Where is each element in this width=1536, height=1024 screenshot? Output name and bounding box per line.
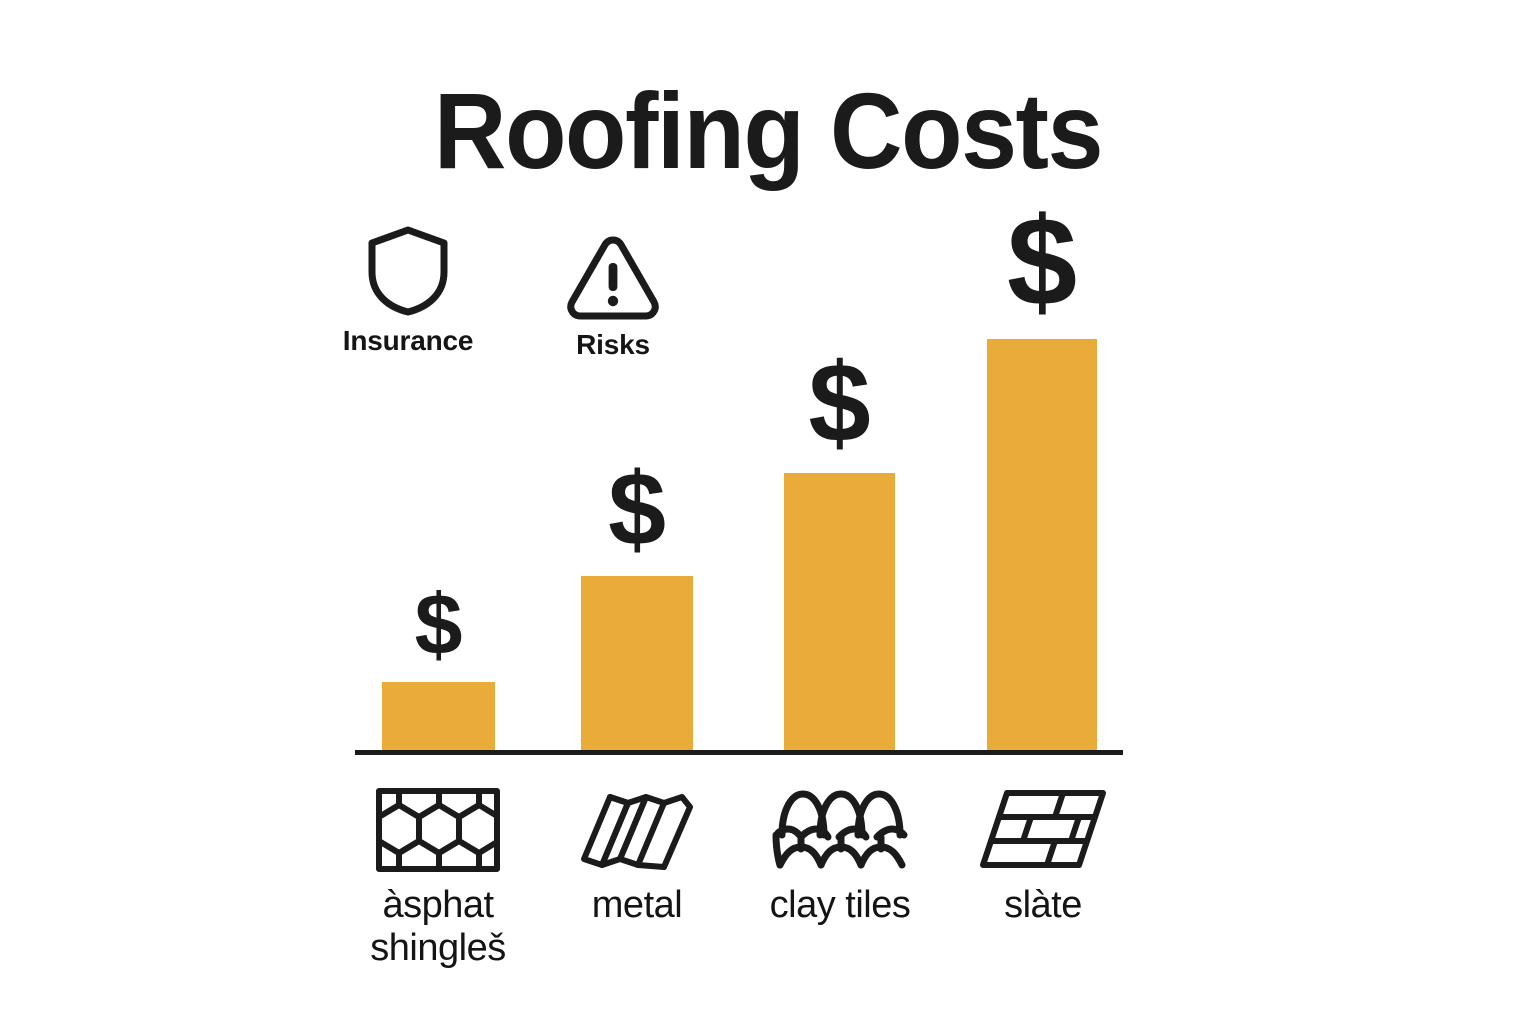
category-label: clay tiles <box>735 884 945 927</box>
category-label-line: shingleš <box>333 927 543 970</box>
bar <box>382 682 495 750</box>
bar-value-label: $ <box>987 199 1097 325</box>
corrugated-metal-icon <box>532 782 742 878</box>
warning-triangle-icon <box>518 228 708 320</box>
shingle-hex-icon <box>333 782 543 878</box>
bar-value-label: $ <box>784 347 895 459</box>
category-label-line: clay tiles <box>735 884 945 927</box>
annotation-risks: Risks <box>518 228 708 361</box>
category-slate: slàte <box>938 782 1148 927</box>
category-label: slàte <box>938 884 1148 927</box>
category-label-line: slàte <box>938 884 1148 927</box>
category-clay-tiles: clay tiles <box>735 782 945 927</box>
annotation-label: Risks <box>518 329 708 361</box>
category-metal: metal <box>532 782 742 927</box>
category-label: àsphat shingleš <box>333 884 543 969</box>
shield-icon <box>313 224 503 316</box>
bar-group: $ <box>784 331 895 750</box>
clay-tile-icon <box>735 782 945 878</box>
bar-value-label: $ <box>581 458 693 562</box>
annotation-insurance: Insurance <box>313 224 503 357</box>
category-asphalt-shingles: àsphat shingleš <box>333 782 543 969</box>
page-title: Roofing Costs <box>54 74 1482 187</box>
bar-group: $ <box>581 442 693 750</box>
bar-group: $ <box>382 566 495 750</box>
axis-baseline <box>355 750 1123 755</box>
category-label-line: àsphat <box>333 884 543 927</box>
annotation-label: Insurance <box>313 325 503 357</box>
category-label-line: metal <box>532 884 742 927</box>
roofing-costs-infographic: Roofing Costs Insurance Risks $$$$ <box>0 0 1536 1024</box>
bar <box>784 473 895 750</box>
bar-group: $ <box>987 183 1097 750</box>
category-label: metal <box>532 884 742 927</box>
bar <box>987 339 1097 750</box>
slate-tile-icon <box>938 782 1148 878</box>
bar-value-label: $ <box>382 582 495 668</box>
bar <box>581 576 693 750</box>
